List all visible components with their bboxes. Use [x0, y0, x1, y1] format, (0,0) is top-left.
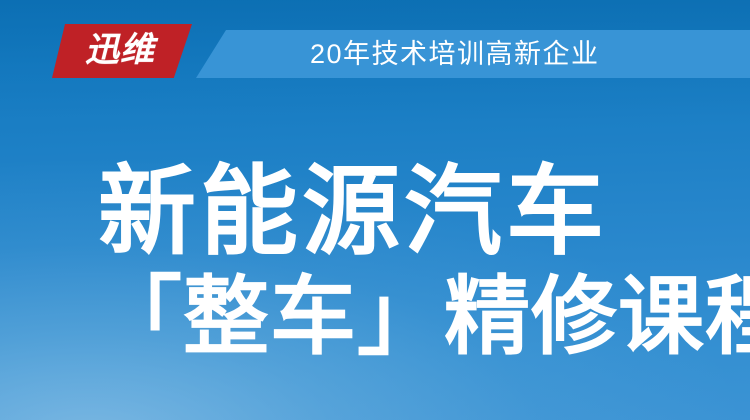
title-primary: 新能源汽车	[98, 162, 608, 260]
title-secondary: 「整车」精修课程	[96, 274, 750, 360]
header-banner-text: 20年技术培训高新企业	[310, 30, 600, 78]
brand-logo-badge: 迅维	[52, 24, 192, 78]
brand-logo-text: 迅维	[85, 33, 155, 67]
promo-poster: 20年技术培训高新企业 迅维 新能源汽车 「整车」精修课程	[0, 0, 750, 420]
poster-header: 20年技术培训高新企业 迅维	[0, 0, 750, 100]
